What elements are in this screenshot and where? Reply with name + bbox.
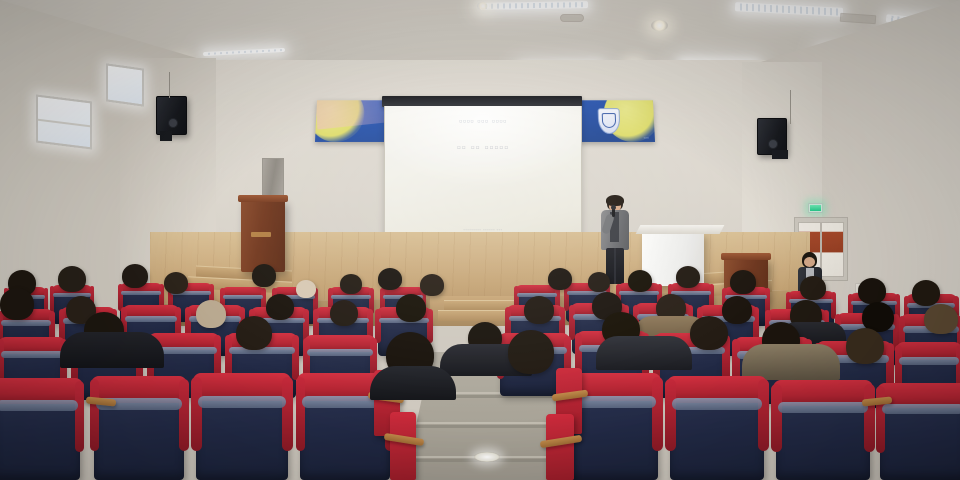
audience-shoulders: [742, 344, 840, 380]
speaker-cone-icon: [168, 118, 178, 128]
microphone-icon: [612, 208, 615, 217]
audience-head: [266, 294, 294, 320]
presenter-hair: [606, 195, 624, 206]
seat[interactable]: [776, 394, 870, 480]
audience-shoulders: [370, 366, 456, 400]
speaker-wire-left: [169, 72, 170, 98]
audience-head: [690, 316, 728, 350]
audience-head: [912, 280, 940, 306]
seat-side: [179, 379, 189, 451]
audience-head: [800, 276, 826, 300]
audience-head: [846, 328, 884, 364]
audience-head: [508, 330, 554, 374]
seat-side: [50, 286, 54, 313]
window-upper-left: [36, 95, 92, 150]
audience-head: [588, 272, 610, 292]
seat-side: [282, 377, 292, 451]
audience-head: [330, 300, 358, 326]
seat-side: [652, 377, 662, 451]
audience-shoulders: [60, 332, 164, 368]
window-upper-left-2: [106, 63, 144, 106]
banner-side-text: ▫▫▫▫: [644, 136, 649, 140]
seat-side: [864, 384, 874, 453]
aisle-seat-end: [390, 412, 416, 480]
seat-side: [758, 379, 768, 451]
audience-head: [296, 280, 316, 298]
audience-head: [722, 296, 752, 324]
wall-speaker-left: [156, 96, 187, 135]
table-top-surface: [636, 225, 725, 234]
seat-side: [876, 386, 885, 453]
seat-side: [75, 381, 84, 451]
audience-head: [0, 288, 34, 320]
slide-footer: ▫▫▫▫▫▫▫▫▫ ▫▫▫▫▫▫ ▫▫▫: [385, 227, 581, 232]
audience-head: [628, 270, 652, 292]
audience-head: [548, 268, 572, 290]
slide-subtitle: ▫▫ ▫▫ ▫▫▫▫▫: [385, 142, 581, 154]
audience-head: [730, 270, 756, 294]
seat[interactable]: [670, 390, 764, 480]
seat-side: [427, 309, 433, 343]
seat-side: [665, 379, 675, 451]
lectern-top: [721, 253, 771, 260]
seat[interactable]: [196, 388, 288, 480]
speaker-bracket-right: [772, 150, 788, 159]
audience-head: [252, 264, 276, 287]
ceiling-downlight: [477, 2, 489, 10]
audience-shoulders: [596, 336, 692, 370]
seat[interactable]: [880, 396, 960, 480]
audience-head: [122, 264, 148, 288]
seat-side: [296, 377, 306, 451]
speaker-wire-right: [790, 90, 791, 124]
seat[interactable]: [0, 392, 80, 480]
audience-head: [524, 296, 554, 324]
audience-head: [340, 274, 362, 294]
auditorium-photo: ▫ ▫▫▫▫▫ ▫▫ ▫▫▫▫▫▫ ▫▫▫▫▫▫▫ ▫▫▫▫▫▫▫▫▫▫ ▫▫▫…: [0, 0, 960, 480]
lectern-plaque: [251, 232, 271, 237]
audience-head: [58, 266, 86, 292]
exit-sign: [808, 203, 823, 213]
audience-head: [164, 272, 188, 294]
speaker-cone-icon: [768, 139, 778, 149]
slide-title: ▫▫▫▫ ▫▫▫ ▫▫▫▫: [385, 116, 581, 126]
seat-side: [90, 379, 100, 451]
audience-head: [396, 294, 426, 322]
audience-head: [924, 304, 958, 334]
audience-head: [196, 300, 226, 328]
aisle-seat-end: [546, 414, 574, 480]
seat-side: [375, 309, 381, 343]
wooden-lectern-left: [241, 200, 285, 272]
attendee-face: [804, 257, 815, 267]
aisle-floor-light: [474, 452, 500, 462]
seat-side: [292, 335, 299, 380]
audience-head: [676, 266, 700, 288]
audience-head: [378, 268, 402, 290]
ceiling-downlight: [651, 20, 668, 31]
projection-screen: ▫▫▫▫ ▫▫▫ ▫▫▫▫ ▫▫ ▫▫ ▫▫▫▫▫ ▫▫▫▫▫▫▫▫▫ ▫▫▫▫…: [384, 106, 582, 249]
door-leaf-right[interactable]: [821, 222, 844, 277]
audience-head: [236, 316, 272, 350]
projector-mount: [560, 14, 584, 22]
lectern-top: [238, 195, 288, 202]
seat-side: [191, 377, 201, 451]
seat-side: [771, 384, 781, 453]
audience-head: [420, 274, 444, 296]
speaker-bracket-left: [160, 131, 172, 141]
audience-head: [858, 278, 886, 304]
